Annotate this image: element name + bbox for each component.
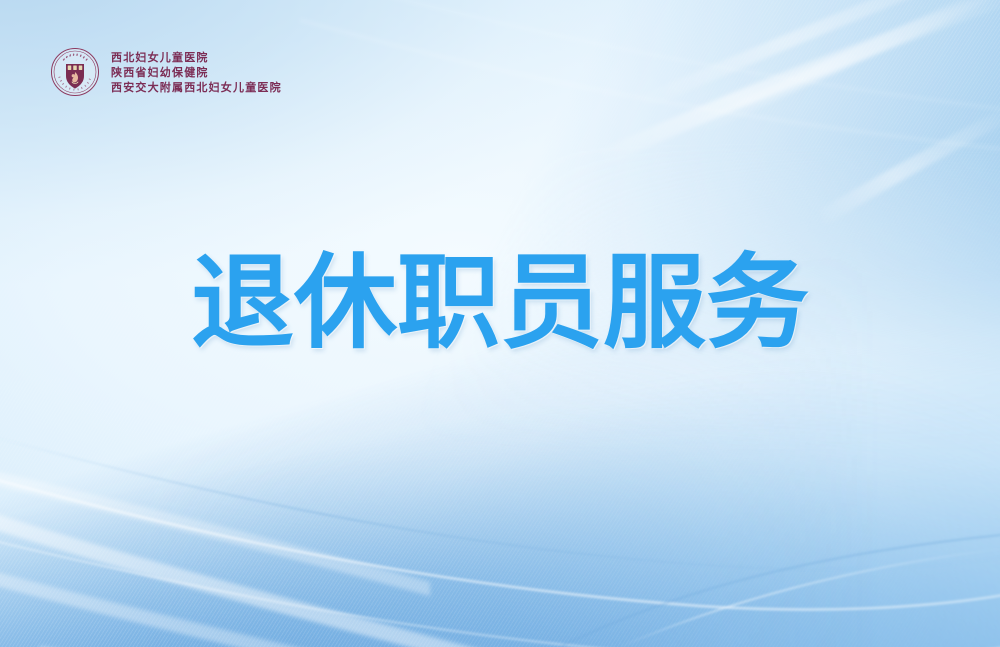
hospital-name-line-2: 陕西省妇幼保健院	[111, 66, 282, 80]
hospital-logo-lockup: 西北妇女儿童医院 陕西省妇幼保健院 西安交大附属西北妇女儿童医院	[50, 47, 282, 97]
slide-title-container: 退休职员服务	[0, 247, 1000, 359]
presentation-slide: 西北妇女儿童医院 陕西省妇幼保健院 西安交大附属西北妇女儿童医院 退休职员服务	[0, 0, 1000, 647]
hospital-name-line-1: 西北妇女儿童医院	[111, 51, 282, 65]
hospital-name-block: 西北妇女儿童医院 陕西省妇幼保健院 西安交大附属西北妇女儿童医院	[111, 50, 282, 95]
hospital-seal-logo-icon	[50, 47, 100, 97]
slide-title: 退休职员服务	[191, 247, 809, 359]
hospital-name-line-3: 西安交大附属西北妇女儿童医院	[111, 81, 282, 95]
